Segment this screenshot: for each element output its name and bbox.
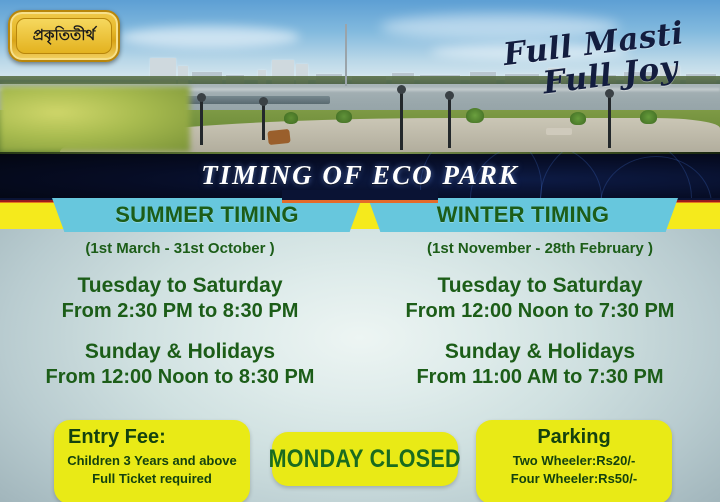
park-logo: প্রকৃতিতীর্থ bbox=[8, 10, 120, 62]
logo-plaque-inner: প্রকৃতিতীর্থ bbox=[16, 18, 112, 54]
monday-closed-label: MONDAY CLOSED bbox=[269, 445, 461, 474]
season-ribbon-row: SUMMER TIMING WINTER TIMING bbox=[0, 198, 720, 234]
summer-holiday-block: Sunday & Holidays From 12:00 Noon to 8:3… bbox=[0, 340, 360, 389]
title-bar-accent-line bbox=[282, 200, 438, 203]
summer-timing-label: SUMMER TIMING bbox=[115, 202, 298, 228]
header-photo-banner: Full Masti Full Joy প্রকৃতিতীর্থ bbox=[0, 0, 720, 152]
entry-fee-box: Entry Fee: Children 3 Years and above Fu… bbox=[54, 420, 250, 502]
entry-fee-heading: Entry Fee: bbox=[54, 426, 250, 449]
entry-fee-line-1: Children 3 Years and above bbox=[54, 452, 250, 470]
lamp-post bbox=[448, 98, 451, 148]
summer-weekday-days: Tuesday to Saturday bbox=[0, 274, 360, 298]
winter-weekday-time: From 12:00 Noon to 7:30 PM bbox=[360, 299, 720, 323]
winter-column: (1st November - 28th February ) Tuesday … bbox=[360, 234, 720, 414]
flag-pole bbox=[345, 24, 347, 86]
parking-box: Parking Two Wheeler:Rs20/- Four Wheeler:… bbox=[476, 420, 672, 502]
palm-tree bbox=[570, 112, 586, 125]
logo-text: প্রকৃতিতীর্থ bbox=[33, 24, 96, 49]
season-columns: (1st March - 31st October ) Tuesday to S… bbox=[0, 234, 720, 414]
summer-date-range: (1st March - 31st October ) bbox=[0, 240, 360, 257]
cloud bbox=[120, 26, 300, 48]
winter-weekday-block: Tuesday to Saturday From 12:00 Noon to 7… bbox=[360, 274, 720, 323]
winter-holiday-time: From 11:00 AM to 7:30 PM bbox=[360, 365, 720, 389]
lawn-foreground bbox=[0, 86, 190, 152]
summer-weekday-time: From 2:30 PM to 8:30 PM bbox=[0, 299, 360, 323]
palm-tree bbox=[640, 110, 657, 124]
summer-column: (1st March - 31st October ) Tuesday to S… bbox=[0, 234, 360, 414]
summer-timing-ribbon: SUMMER TIMING bbox=[52, 198, 362, 232]
wooden-signpost bbox=[267, 129, 290, 145]
entry-fee-line-2: Full Ticket required bbox=[54, 470, 250, 488]
winter-holiday-block: Sunday & Holidays From 11:00 AM to 7:30 … bbox=[360, 340, 720, 389]
eco-park-timing-poster: Full Masti Full Joy প্রকৃতিতীর্থ TIMING … bbox=[0, 0, 720, 502]
winter-holiday-days: Sunday & Holidays bbox=[360, 340, 720, 364]
summer-weekday-block: Tuesday to Saturday From 2:30 PM to 8:30… bbox=[0, 274, 360, 323]
winter-timing-label: WINTER TIMING bbox=[437, 202, 609, 228]
monday-closed-box: MONDAY CLOSED bbox=[272, 432, 458, 486]
winter-date-range: (1st November - 28th February ) bbox=[360, 240, 720, 257]
notice-boxes: Entry Fee: Children 3 Years and above Fu… bbox=[0, 416, 720, 502]
winter-timing-ribbon: WINTER TIMING bbox=[368, 198, 678, 232]
palm-tree bbox=[284, 112, 298, 124]
park-bench bbox=[546, 128, 572, 135]
palm-tree bbox=[336, 110, 352, 123]
winter-weekday-days: Tuesday to Saturday bbox=[360, 274, 720, 298]
lamp-post bbox=[400, 92, 403, 150]
palm-tree bbox=[466, 108, 484, 123]
lamp-post bbox=[262, 104, 265, 140]
parking-heading: Parking bbox=[476, 426, 672, 449]
parking-two-wheeler: Two Wheeler:Rs20/- bbox=[476, 452, 672, 470]
lamp-post bbox=[608, 96, 611, 148]
lamp-post bbox=[200, 100, 203, 145]
summer-holiday-days: Sunday & Holidays bbox=[0, 340, 360, 364]
summer-holiday-time: From 12:00 Noon to 8:30 PM bbox=[0, 365, 360, 389]
parking-four-wheeler: Four Wheeler:Rs50/- bbox=[476, 470, 672, 488]
